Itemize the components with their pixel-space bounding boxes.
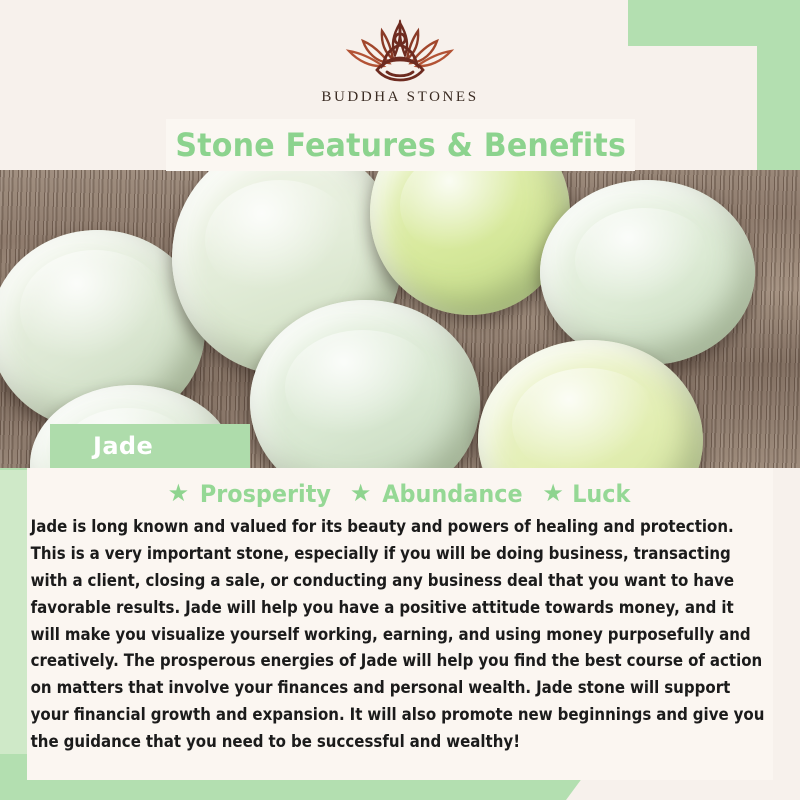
benefit-label: Luck — [572, 480, 630, 508]
benefits-row: ★ Prosperity ★ Abundance ★ Luck — [27, 480, 773, 508]
stone-name-label: Jade — [93, 432, 153, 460]
star-icon: ★ — [168, 482, 190, 506]
benefit-item: ★ Luck — [542, 480, 632, 508]
stone-name-badge: Jade — [50, 424, 250, 468]
star-icon: ★ — [350, 482, 372, 506]
content-panel: ★ Prosperity ★ Abundance ★ Luck Jade is … — [27, 468, 773, 780]
decor-green-left-lower — [0, 470, 27, 788]
brand-header: BUDDHA STONES — [0, 0, 800, 120]
benefit-item: ★ Prosperity — [168, 480, 336, 508]
title-banner: Stone Features & Benefits — [166, 119, 635, 171]
benefit-label: Abundance — [383, 480, 523, 508]
stone-highlight — [205, 180, 355, 300]
stone-highlight — [20, 250, 170, 370]
star-icon: ★ — [542, 482, 564, 506]
stone-description: Jade is long known and valued for its be… — [27, 512, 770, 756]
page-title: Stone Features & Benefits — [175, 126, 626, 164]
lotus-meditation-icon — [325, 15, 475, 87]
benefit-label: Prosperity — [200, 480, 331, 508]
stone-highlight — [285, 330, 440, 445]
brand-name: BUDDHA STONES — [321, 89, 478, 106]
benefit-item: ★ Abundance — [350, 480, 528, 508]
poster-root: BUDDHA STONES Stone Features & Benefits … — [0, 0, 800, 800]
stone-highlight — [575, 208, 715, 313]
